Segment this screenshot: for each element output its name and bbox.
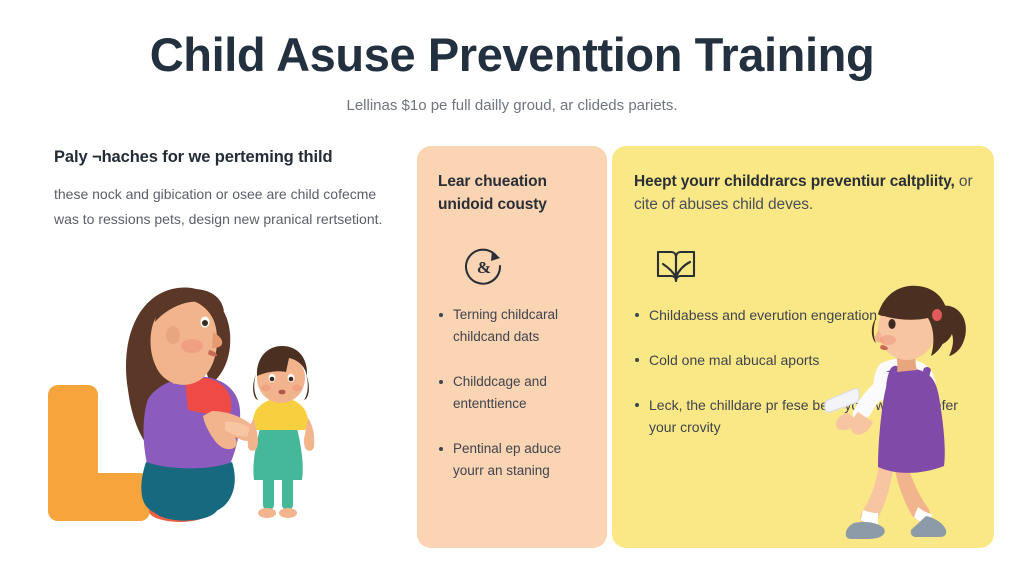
card-prevention-heading-strong: Heept yourr childdrarcs preventiur caltp… bbox=[634, 173, 955, 190]
circular-arrow-icon: & bbox=[461, 244, 507, 290]
woman-kneeling-with-child-illustration bbox=[42, 270, 342, 542]
card-education[interactable]: Lear chueation unidoid cousty & Terning … bbox=[417, 146, 607, 548]
svg-text:&: & bbox=[477, 258, 491, 277]
left-column-heading: Paly ¬haches for we perteming thild bbox=[54, 146, 394, 168]
card-education-bullet-list: Terning childcaral childcand dats Childd… bbox=[438, 304, 590, 482]
card-education-heading: Lear chueation unidoid cousty bbox=[438, 170, 590, 216]
list-item: Pentinal ep aduce yourr an staning bbox=[438, 438, 590, 482]
card-education-heading-rest: unidoid cousty bbox=[438, 196, 547, 213]
card-prevention[interactable]: Heept yourr childdrarcs preventiur caltp… bbox=[612, 146, 994, 548]
list-item: Childdcage and ententtience bbox=[438, 371, 590, 415]
page-header: Child Asuse Preventtion Training Lellina… bbox=[0, 0, 1024, 132]
open-book-icon bbox=[653, 244, 699, 290]
card-prevention-heading: Heept yourr childdrarcs preventiur caltp… bbox=[634, 170, 977, 216]
page-title: Child Asuse Preventtion Training bbox=[0, 0, 1024, 84]
card-education-heading-strong: Lear chueation bbox=[438, 173, 547, 190]
list-item: Terning childcaral childcand dats bbox=[438, 304, 590, 348]
page-subtitle: Lellinas $1o pe full dailly groud, ar cl… bbox=[0, 84, 1024, 116]
left-column: Paly ¬haches for we perteming thild thes… bbox=[54, 146, 394, 548]
girl-walking-with-phone-illustration bbox=[818, 284, 988, 548]
left-column-body: these nock and gibication or osee are ch… bbox=[54, 168, 394, 232]
